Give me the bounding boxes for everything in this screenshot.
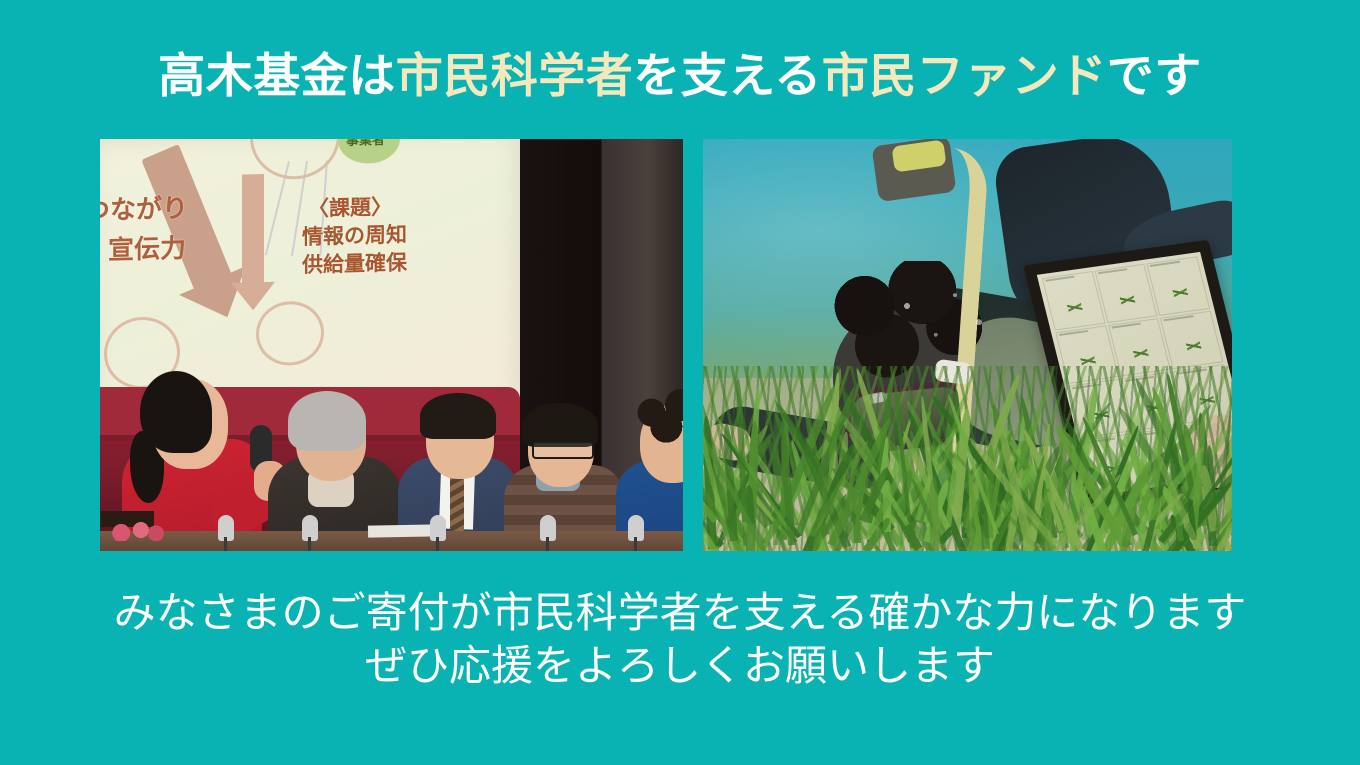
table-microphone-stem [224, 537, 227, 551]
table-microphone-stem [634, 537, 637, 551]
slate-cell [1160, 310, 1223, 369]
panelist-2-gray-hair [288, 391, 366, 451]
slide-text-tsunagari: つながり [100, 188, 188, 228]
slide-arrow-small [242, 174, 264, 285]
slate-cell [1147, 256, 1210, 315]
table-papers [368, 524, 438, 537]
panelist-3-necktie [450, 475, 464, 531]
panel-discussion-photo: 事業者 つながり 宣伝力 〈課題〉 情報の周知 供給量確保 [100, 139, 683, 551]
underwater-seagrass-survey-photo [703, 139, 1232, 551]
slide-root: 高木基金は市民科学者を支える市民ファンドです 事業者 つながり 宣伝力 〈課題〉… [0, 0, 1360, 765]
panelist-3-hair [420, 393, 496, 439]
title-segment-1: 高木基金は [158, 49, 396, 104]
panelist-1-hair [140, 371, 212, 453]
table-microphone-stem [546, 537, 549, 551]
title-segment-4: 市民ファンド [822, 49, 1107, 104]
seagrass-blades [703, 366, 1232, 551]
slide-text-kyokyu: 供給量確保 [302, 247, 407, 280]
slide-circle [256, 301, 324, 367]
donation-message: みなさまのご寄付が市民科学者を支える確かな力になります ぜひ応援をよろしくお願い… [0, 586, 1360, 692]
slide-text-jigyosha: 事業者 [346, 139, 385, 149]
table-microphone-stem [308, 537, 311, 551]
donation-message-line-1: みなさまのご寄付が市民科学者を支える確かな力になります [0, 586, 1360, 639]
seagrass-blade [929, 477, 939, 551]
panelist-5-curly-hair [624, 387, 683, 451]
panelist-4-glasses-icon [532, 441, 594, 459]
table-microphone-stem [436, 537, 439, 551]
slide-green-bubble: 事業者 [338, 139, 400, 164]
table-flowers [110, 521, 166, 541]
page-title: 高木基金は市民科学者を支える市民ファンドです [0, 46, 1360, 108]
slide-text-kadai: 〈課題〉 [308, 191, 392, 223]
title-segment-5: です [1107, 49, 1202, 104]
air-bubbles [883, 279, 1003, 369]
donation-message-line-2: ぜひ応援をよろしくお願いします [0, 639, 1360, 692]
title-segment-3: を支える [633, 49, 822, 104]
slide-text-senden: 宣伝力 [108, 228, 186, 267]
title-segment-2: 市民科学者 [396, 49, 634, 104]
